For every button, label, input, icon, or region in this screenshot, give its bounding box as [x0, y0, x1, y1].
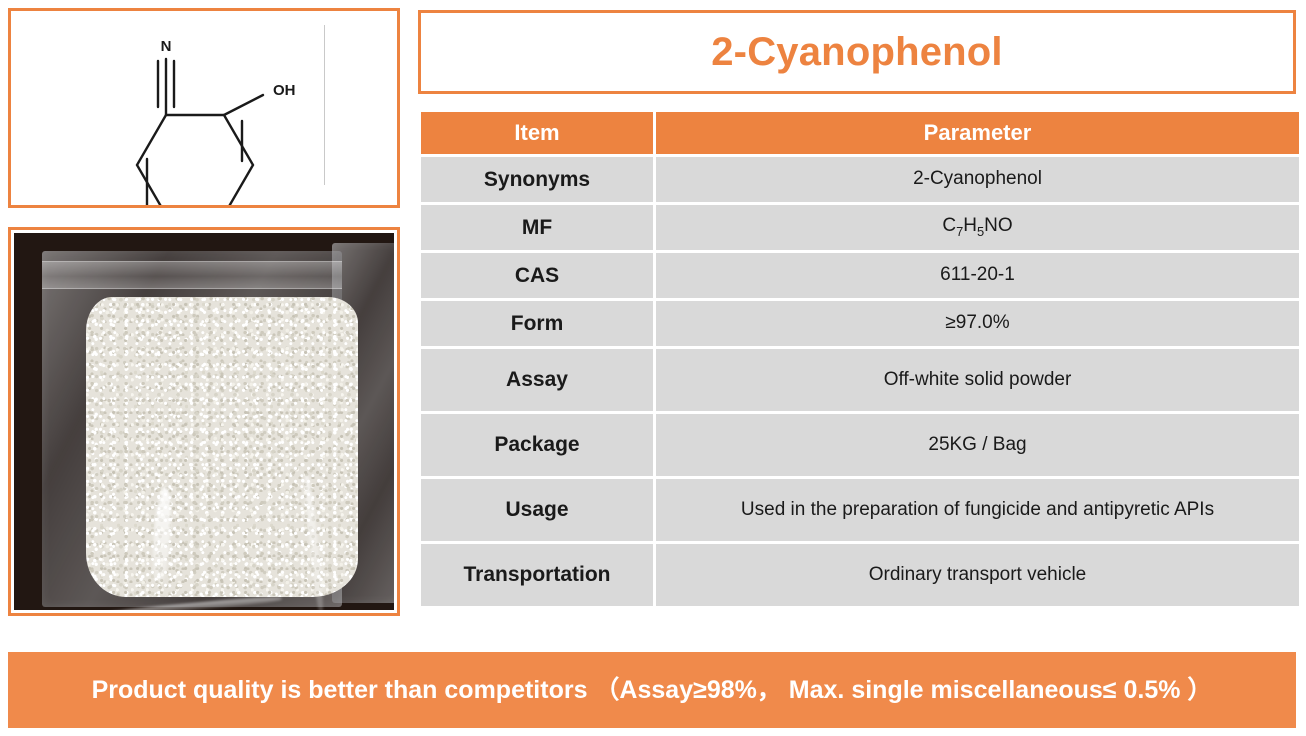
- column-header-item: Item: [421, 112, 653, 154]
- table-cell-value-text: Off-white solid powder: [664, 369, 1291, 392]
- table-row: Synonyms2-Cyanophenol: [421, 157, 1299, 202]
- quality-claim-banner: Product quality is better than competito…: [8, 652, 1296, 728]
- quality-claim-text: Product quality is better than competito…: [92, 674, 1213, 707]
- table-cell-value: 25KG / Bag: [656, 414, 1299, 476]
- left-media-column: N OH: [8, 8, 400, 616]
- page-title: 2-Cyanophenol: [711, 32, 1003, 72]
- primary-bag: [42, 251, 342, 607]
- table-cell-value: ≥97.0%: [656, 301, 1299, 346]
- product-title-box: 2-Cyanophenol: [418, 10, 1296, 94]
- bag-seal: [42, 261, 342, 289]
- table-cell-value-text: Ordinary transport vehicle: [664, 564, 1291, 587]
- specification-table: Item Parameter Synonyms2-CyanophenolMFC7…: [418, 109, 1302, 609]
- table-row: MFC7H5NO: [421, 205, 1299, 250]
- table-cell-value-text: 2-Cyanophenol: [664, 168, 1291, 191]
- table-cell-item: Transportation: [421, 544, 653, 606]
- bag-highlight-bottom: [102, 595, 282, 610]
- table-row: CAS611-20-1: [421, 253, 1299, 298]
- right-info-column: 2-Cyanophenol Item Parameter Synonyms2-C…: [418, 10, 1296, 609]
- specification-table-body: Synonyms2-CyanophenolMFC7H5NOCAS611-20-1…: [421, 157, 1299, 606]
- structure-divider-line: [324, 25, 325, 185]
- hydroxyl-group-label: OH: [273, 82, 296, 99]
- table-cell-item: MF: [421, 205, 653, 250]
- table-row: UsageUsed in the preparation of fungicid…: [421, 479, 1299, 541]
- table-row: AssayOff-white solid powder: [421, 349, 1299, 411]
- table-cell-value: C7H5NO: [656, 205, 1299, 250]
- table-cell-item: Synonyms: [421, 157, 653, 202]
- table-cell-item: Assay: [421, 349, 653, 411]
- table-cell-value: Off-white solid powder: [656, 349, 1299, 411]
- nitrogen-atom-label: N: [161, 38, 172, 55]
- table-cell-value-text: 611-20-1: [664, 264, 1291, 287]
- table-row: Form≥97.0%: [421, 301, 1299, 346]
- table-row: Package25KG / Bag: [421, 414, 1299, 476]
- table-cell-value-text: 25KG / Bag: [664, 434, 1291, 457]
- product-photo-frame: [8, 227, 400, 616]
- table-cell-item: Usage: [421, 479, 653, 541]
- table-cell-item: Form: [421, 301, 653, 346]
- table-cell-value-text: ≥97.0%: [664, 312, 1291, 335]
- column-header-parameter: Parameter: [656, 112, 1299, 154]
- chemical-structure-diagram: N OH: [11, 11, 397, 205]
- table-cell-value: Ordinary transport vehicle: [656, 544, 1299, 606]
- product-photo: [14, 233, 394, 610]
- table-cell-item: Package: [421, 414, 653, 476]
- table-cell-value: Used in the preparation of fungicide and…: [656, 479, 1299, 541]
- table-cell-value: 611-20-1: [656, 253, 1299, 298]
- table-cell-value: 2-Cyanophenol: [656, 157, 1299, 202]
- table-row: TransportationOrdinary transport vehicle: [421, 544, 1299, 606]
- chemical-structure-frame: N OH: [8, 8, 400, 208]
- table-cell-value-text: Used in the preparation of fungicide and…: [664, 499, 1291, 522]
- table-cell-item: CAS: [421, 253, 653, 298]
- molecular-formula: C7H5NO: [664, 215, 1291, 239]
- table-header-row: Item Parameter: [421, 112, 1299, 154]
